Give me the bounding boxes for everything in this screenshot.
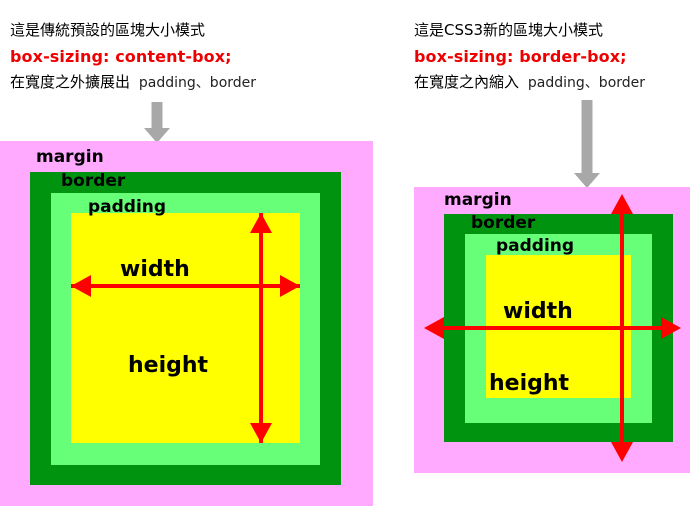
- measure-height-arrowhead-down: [611, 442, 633, 462]
- caption-explanation-latin: padding、border: [528, 75, 645, 91]
- label-padding: padding: [88, 199, 166, 216]
- diagram-content-box: margin border padding width height: [0, 141, 373, 514]
- caption-line-explanation: 在寬度之內縮入 padding、border: [414, 70, 645, 96]
- arrow-head: [574, 173, 600, 188]
- diagram-border-box: margin border padding width height: [414, 187, 691, 477]
- caption-code-declaration: box-sizing: content-box;: [10, 43, 256, 70]
- label-width: width: [503, 301, 573, 323]
- arrow-shaft: [582, 100, 593, 174]
- measure-width-arrowhead-left: [424, 317, 444, 339]
- caption-line-intro: 這是CSS3新的區塊大小模式: [414, 18, 645, 43]
- measure-width-arrowhead-right: [661, 317, 681, 339]
- label-margin: margin: [36, 149, 104, 166]
- caption-line-intro: 這是傳統預設的區塊大小模式: [10, 18, 256, 43]
- label-border: border: [471, 215, 535, 232]
- label-height: height: [489, 373, 569, 395]
- measure-height-arrowhead-up: [611, 194, 633, 214]
- measure-height-line: [620, 214, 624, 442]
- caption-explanation-latin: padding、border: [139, 75, 256, 91]
- label-height: height: [128, 355, 208, 377]
- caption-border-box: 這是CSS3新的區塊大小模式 box-sizing: border-box; 在…: [414, 18, 645, 96]
- down-arrow-icon-left: [144, 102, 170, 143]
- label-margin: margin: [444, 192, 512, 209]
- label-padding: padding: [496, 238, 574, 255]
- down-arrow-icon-right: [574, 100, 600, 188]
- measure-width-arrowhead-left: [71, 275, 91, 297]
- measure-width-arrowhead-right: [280, 275, 300, 297]
- measure-width-line: [71, 284, 300, 288]
- layer-content: [71, 213, 300, 443]
- label-width: width: [120, 259, 190, 281]
- label-border: border: [61, 173, 125, 190]
- measure-height-arrowhead-up: [250, 213, 272, 233]
- caption-content-box: 這是傳統預設的區塊大小模式 box-sizing: content-box; 在…: [10, 18, 256, 96]
- measure-height-line: [259, 213, 263, 443]
- caption-code-declaration: box-sizing: border-box;: [414, 43, 645, 70]
- caption-explanation-cjk: 在寬度之內縮入: [414, 73, 519, 91]
- box-sizing-comparison-figure: 這是傳統預設的區塊大小模式 box-sizing: content-box; 在…: [0, 0, 700, 514]
- arrow-shaft: [152, 102, 163, 129]
- caption-explanation-cjk: 在寬度之外擴展出: [10, 73, 130, 91]
- measure-width-line: [444, 326, 673, 330]
- caption-line-explanation: 在寬度之外擴展出 padding、border: [10, 70, 256, 96]
- measure-height-arrowhead-down: [250, 423, 272, 443]
